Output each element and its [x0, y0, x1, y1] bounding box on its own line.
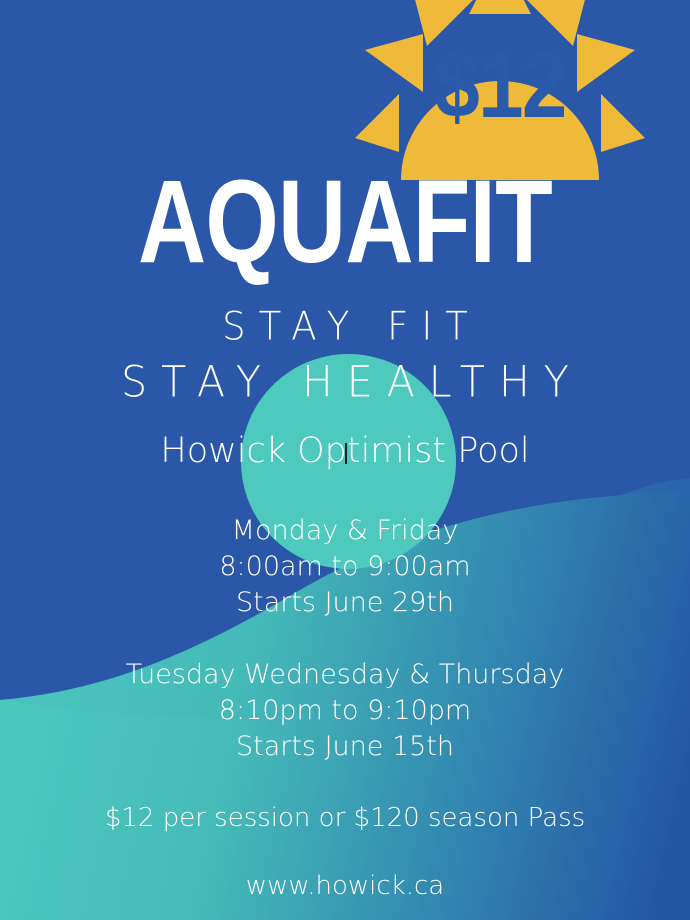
schedule-start-date: Starts June 29th	[0, 585, 690, 621]
schedule-start-date: Starts June 15th	[0, 729, 690, 765]
sun-graphic: $12	[355, 0, 645, 182]
schedule-days: Monday & Friday	[0, 513, 690, 549]
schedule-time: 8:00am to 9:00am	[0, 549, 690, 585]
price-badge: $12	[375, 38, 624, 133]
pricing-line: $12 per session or $120 season Pass	[0, 801, 690, 835]
text-caret-artifact	[345, 443, 347, 464]
tagline-stay-healthy: STAY HEALTHY	[0, 361, 690, 403]
page-title: AQUAFIT	[69, 163, 621, 281]
tagline-stay-fit: STAY FIT	[0, 306, 690, 348]
schedule-time: 8:10pm to 9:10pm	[0, 693, 690, 729]
schedule-days: Tuesday Wednesday & Thursday	[0, 657, 690, 693]
poster-canvas: $12 AQUAFIT STAY FIT STAY HEALTHY Howick…	[0, 0, 690, 920]
schedule-block-1: Monday & Friday 8:00am to 9:00am Starts …	[0, 513, 690, 621]
schedule-block-2: Tuesday Wednesday & Thursday 8:10pm to 9…	[0, 657, 690, 765]
website-url[interactable]: www.howick.ca	[0, 869, 690, 903]
